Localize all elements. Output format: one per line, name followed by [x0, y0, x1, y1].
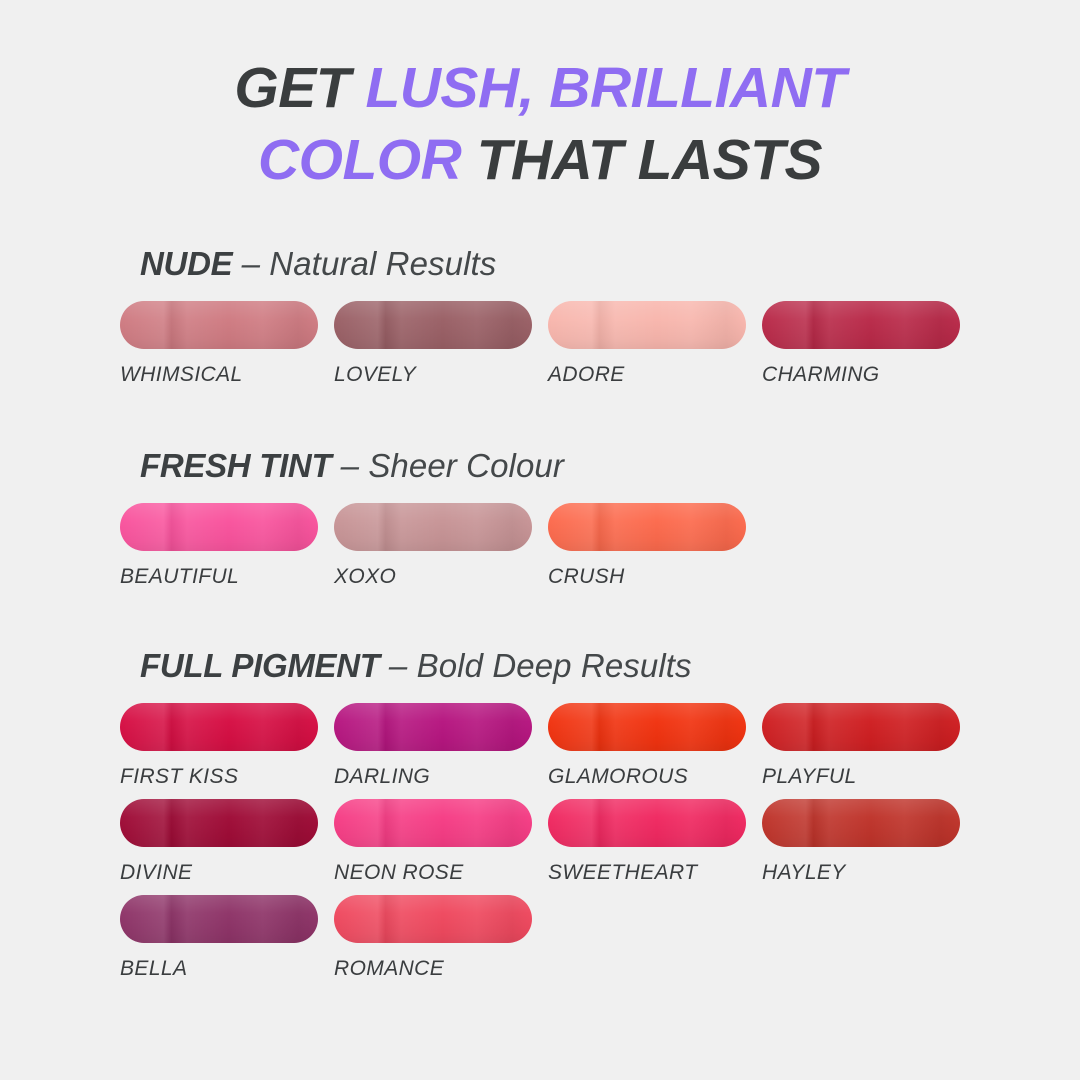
swatch-label: BELLA	[120, 957, 318, 981]
headline-word-that-lasts: THAT LASTS	[461, 128, 822, 192]
headline-word-get: GET	[234, 56, 365, 120]
swatch-pill[interactable]	[334, 799, 532, 847]
swatch-pill[interactable]	[548, 703, 746, 751]
swatch-pill[interactable]	[334, 895, 532, 943]
swatch-label: CRUSH	[548, 565, 746, 589]
swatch-pill[interactable]	[548, 301, 746, 349]
swatch-label: DIVINE	[120, 861, 318, 885]
swatch-label: ROMANCE	[334, 957, 532, 981]
swatch-label: SWEETHEART	[548, 861, 746, 885]
swatch-label: NEON ROSE	[334, 861, 532, 885]
swatch-label: CHARMING	[762, 363, 960, 387]
swatch-pill[interactable]	[762, 799, 960, 847]
swatch-cell[interactable]: CHARMING	[762, 301, 960, 387]
section-title-fresh-tint: FRESH TINT	[140, 447, 331, 484]
swatch-cell[interactable]: ROMANCE	[334, 895, 532, 981]
swatch-cell[interactable]: DARLING	[334, 703, 532, 789]
section-header-fresh-tint: FRESH TINT – Sheer Colour	[140, 445, 1080, 503]
section-subtitle-nude: – Natural Results	[232, 245, 496, 282]
swatch-cell[interactable]: GLAMOROUS	[548, 703, 746, 789]
swatch-label: HAYLEY	[762, 861, 960, 885]
section-title-full-pigment: FULL PIGMENT	[140, 647, 380, 684]
swatch-cell[interactable]: ADORE	[548, 301, 746, 387]
swatch-cell[interactable]: HAYLEY	[762, 799, 960, 885]
section-subtitle-fresh-tint: – Sheer Colour	[331, 447, 564, 484]
swatch-cell[interactable]: LOVELY	[334, 301, 532, 387]
swatch-cell[interactable]: SWEETHEART	[548, 799, 746, 885]
swatch-pill[interactable]	[120, 895, 318, 943]
section-fresh-tint: FRESH TINT – Sheer Colour BEAUTIFUL XOXO…	[0, 445, 1080, 599]
swatch-label: DARLING	[334, 765, 532, 789]
section-nude: NUDE – Natural Results WHIMSICAL LOVELY …	[0, 243, 1080, 397]
swatch-grid-nude: WHIMSICAL LOVELY ADORE CHARMING	[120, 301, 990, 397]
swatch-cell[interactable]: WHIMSICAL	[120, 301, 318, 387]
section-full-pigment: FULL PIGMENT – Bold Deep Results FIRST K…	[0, 645, 1080, 991]
swatch-label: PLAYFUL	[762, 765, 960, 789]
swatch-cell[interactable]: DIVINE	[120, 799, 318, 885]
swatch-label: XOXO	[334, 565, 532, 589]
headline-line-1: GET LUSH, BRILLIANT	[0, 52, 1080, 124]
headline-accent-lush-brilliant: LUSH, BRILLIANT	[365, 56, 845, 120]
swatch-pill[interactable]	[120, 799, 318, 847]
swatch-pill[interactable]	[120, 703, 318, 751]
swatch-label: FIRST KISS	[120, 765, 318, 789]
swatch-label: ADORE	[548, 363, 746, 387]
swatch-cell[interactable]: PLAYFUL	[762, 703, 960, 789]
swatch-cell[interactable]: FIRST KISS	[120, 703, 318, 789]
swatch-grid-full-pigment: FIRST KISS DARLING GLAMOROUS PLAYFUL DIV…	[120, 703, 990, 991]
swatch-pill[interactable]	[334, 703, 532, 751]
swatch-pill[interactable]	[120, 503, 318, 551]
section-title-nude: NUDE	[140, 245, 232, 282]
swatch-pill[interactable]	[548, 503, 746, 551]
swatch-cell[interactable]: CRUSH	[548, 503, 746, 589]
section-header-full-pigment: FULL PIGMENT – Bold Deep Results	[140, 645, 1080, 703]
swatch-pill[interactable]	[334, 301, 532, 349]
swatch-cell[interactable]: BEAUTIFUL	[120, 503, 318, 589]
swatch-cell[interactable]: NEON ROSE	[334, 799, 532, 885]
swatch-pill[interactable]	[120, 301, 318, 349]
headline-line-2: COLOR THAT LASTS	[0, 124, 1080, 196]
swatch-label: GLAMOROUS	[548, 765, 746, 789]
swatch-pill[interactable]	[762, 703, 960, 751]
swatch-label: BEAUTIFUL	[120, 565, 318, 589]
swatch-pill[interactable]	[548, 799, 746, 847]
swatch-pill[interactable]	[334, 503, 532, 551]
headline-accent-color: COLOR	[258, 128, 461, 192]
swatch-label: LOVELY	[334, 363, 532, 387]
swatch-pill[interactable]	[762, 301, 960, 349]
swatch-grid-fresh-tint: BEAUTIFUL XOXO CRUSH	[120, 503, 990, 599]
section-header-nude: NUDE – Natural Results	[140, 243, 1080, 301]
swatch-label: WHIMSICAL	[120, 363, 318, 387]
page-headline: GET LUSH, BRILLIANT COLOR THAT LASTS	[0, 52, 1080, 196]
section-subtitle-full-pigment: – Bold Deep Results	[380, 647, 692, 684]
swatch-cell[interactable]: BELLA	[120, 895, 318, 981]
swatch-cell[interactable]: XOXO	[334, 503, 532, 589]
